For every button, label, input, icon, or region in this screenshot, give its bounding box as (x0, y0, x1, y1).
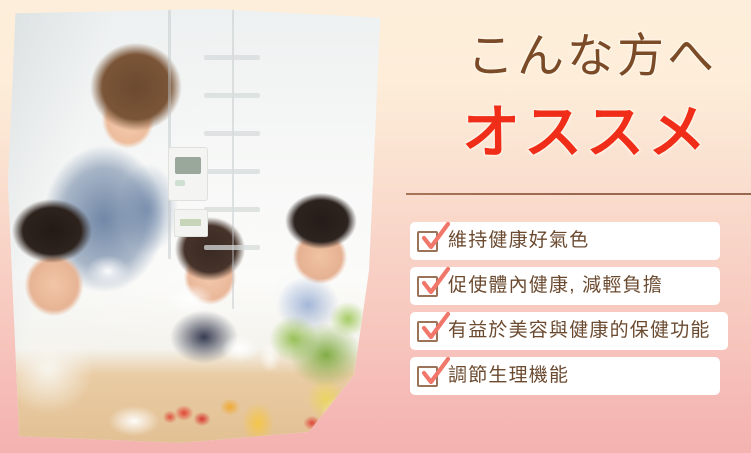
shelf (204, 169, 260, 174)
list-item: 有益於美容與健康的保健功能 (410, 312, 751, 350)
divider (406, 193, 751, 195)
list-item-label: 促使體內健康, 減輕負擔 (448, 267, 663, 305)
promo-banner: こんな方へ オススメ 維持健康好氣色 (0, 0, 751, 453)
benefits-checklist: 維持健康好氣色 促使體內健康, 減輕負擔 (410, 222, 751, 402)
list-item-label: 調節生理機能 (448, 357, 569, 395)
banner-content: こんな方へ オススメ 維持健康好氣色 (400, 0, 751, 453)
check-mark-icon (421, 267, 451, 297)
list-item-label: 有益於美容與健康的保健功能 (448, 312, 711, 350)
list-item: 促使體內健康, 減輕負擔 (410, 267, 751, 305)
shelf (204, 131, 260, 136)
wall-thermostat-icon (168, 147, 208, 201)
list-item: 維持健康好氣色 (410, 222, 751, 260)
list-item-label: 維持健康好氣色 (448, 222, 589, 260)
page-title-accent: オススメ (436, 104, 736, 162)
list-item: 調節生理機能 (410, 357, 751, 395)
check-mark-icon (421, 222, 451, 252)
checkbox-checked-icon[interactable] (417, 321, 438, 342)
check-mark-icon (421, 357, 451, 387)
checkbox-checked-icon[interactable] (417, 276, 438, 297)
shelf (204, 55, 260, 60)
checkbox-checked-icon[interactable] (417, 231, 438, 252)
checkbox-checked-icon[interactable] (417, 366, 438, 387)
family-photo-image (8, 9, 384, 445)
wall-seam (232, 9, 234, 309)
family-photo (8, 9, 384, 445)
wall-switch-icon (174, 209, 208, 237)
shelf (204, 245, 260, 250)
wall-seam (168, 9, 171, 259)
shelf (204, 207, 260, 212)
check-mark-icon (421, 312, 451, 342)
page-title: こんな方へ (442, 34, 742, 81)
shelf (204, 93, 260, 98)
